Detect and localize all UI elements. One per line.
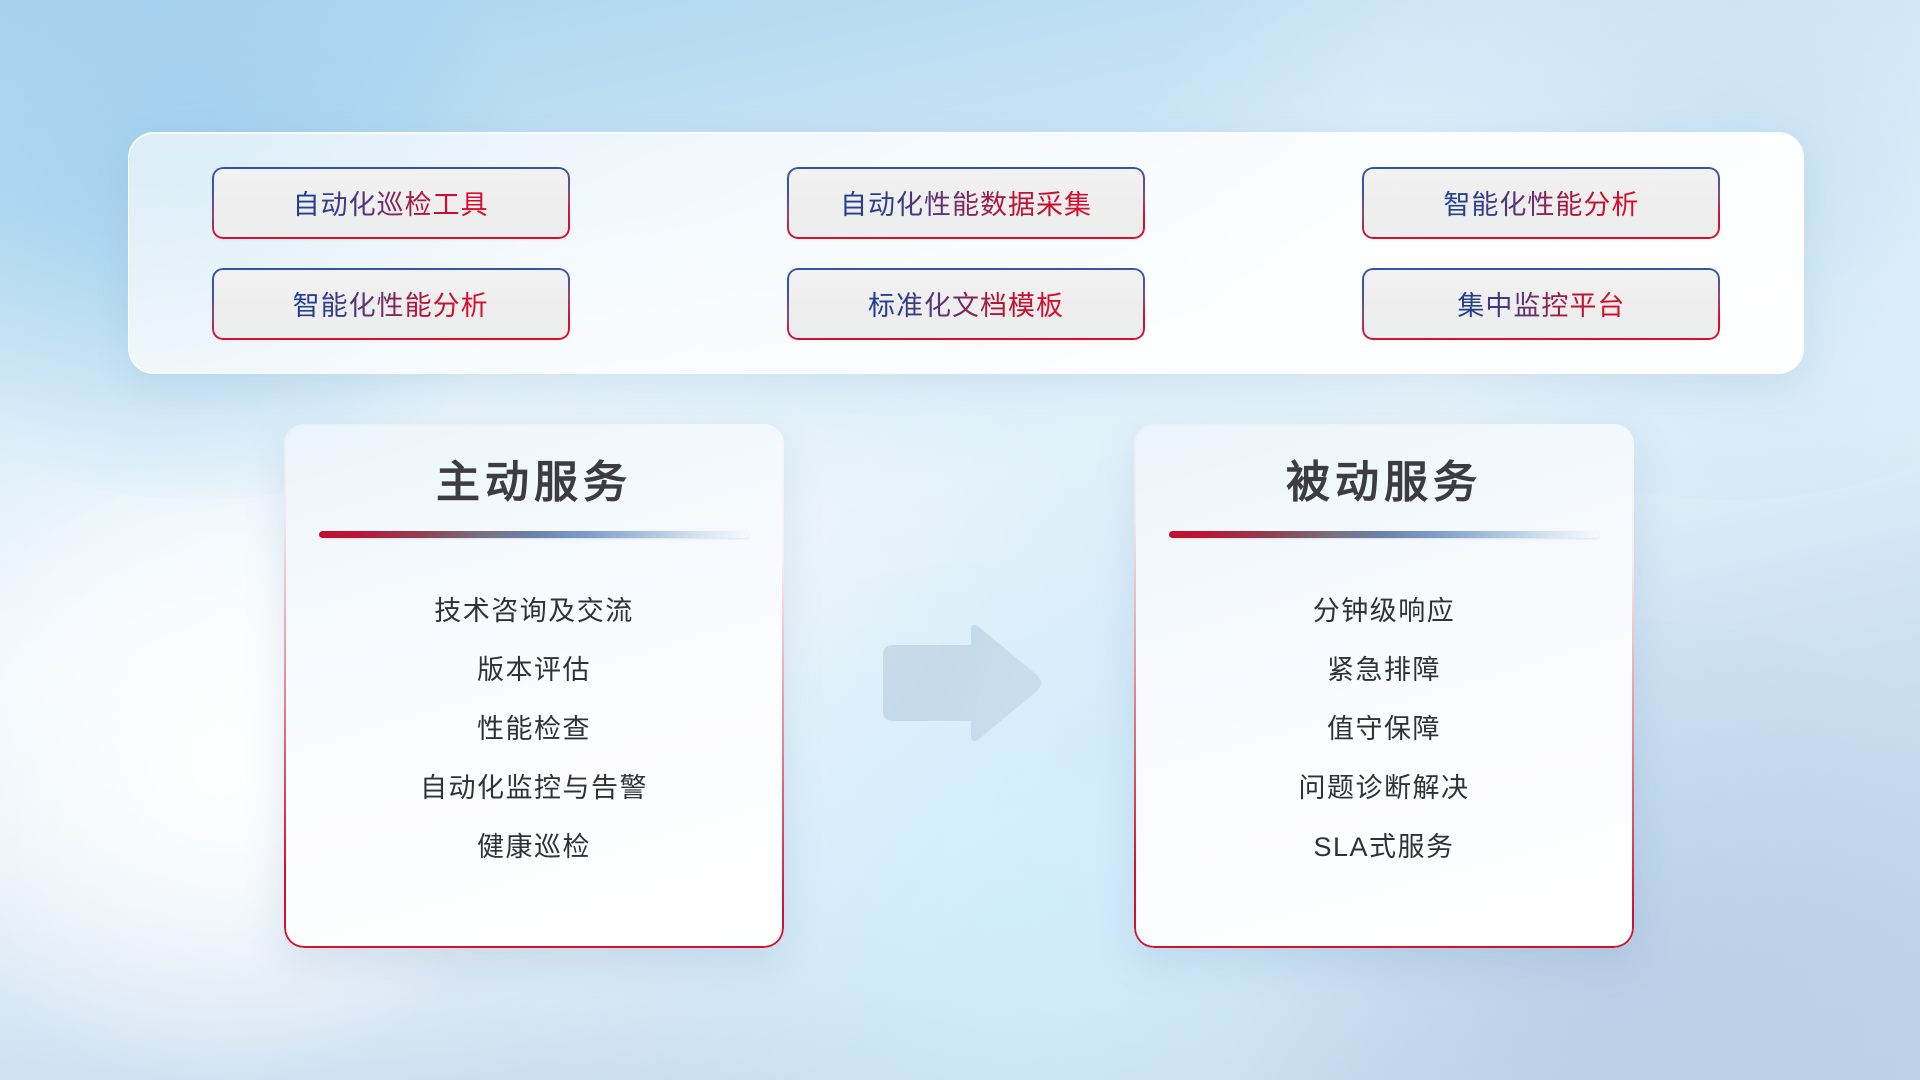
capability-pill[interactable]: 标准化文档模板 [787, 268, 1145, 340]
capability-pill-label: 智能化性能分析 [1443, 183, 1639, 222]
list-item: 问题诊断解决 [1160, 759, 1608, 818]
capability-pill[interactable]: 智能化性能分析 [212, 268, 570, 340]
list-item: 技术咨询及交流 [310, 582, 758, 641]
capability-pill-label: 自动化巡检工具 [293, 183, 489, 222]
capability-pill-label: 标准化文档模板 [868, 284, 1064, 323]
capability-pill-grid: 自动化巡检工具 自动化性能数据采集 智能化性能分析 智能化性能分析 标准化文档模… [173, 163, 1759, 343]
service-item-list: 分钟级响应 紧急排障 值守保障 问题诊断解决 SLA式服务 [1160, 582, 1608, 877]
list-item: SLA式服务 [1160, 818, 1608, 877]
capability-pill[interactable]: 自动化巡检工具 [212, 167, 570, 239]
service-card-reactive: 被动服务 分钟级响应 紧急排障 值守保障 问题诊断解决 SLA式服务 [1134, 424, 1634, 948]
title-underline-rule [1169, 531, 1599, 538]
list-item: 版本评估 [310, 641, 758, 700]
service-item-list: 技术咨询及交流 版本评估 性能检查 自动化监控与告警 健康巡检 [310, 582, 758, 877]
card-title: 被动服务 [1160, 458, 1608, 507]
list-item: 分钟级响应 [1160, 582, 1608, 641]
capability-pill-label: 智能化性能分析 [293, 284, 489, 323]
list-item: 值守保障 [1160, 700, 1608, 759]
list-item: 健康巡检 [310, 818, 758, 877]
capability-pill-label: 集中监控平台 [1457, 284, 1625, 323]
slide-canvas: 自动化巡检工具 自动化性能数据采集 智能化性能分析 智能化性能分析 标准化文档模… [0, 0, 1920, 1080]
capability-pill-label: 自动化性能数据采集 [840, 183, 1092, 222]
arrow-right-icon [875, 619, 1047, 747]
list-item: 性能检查 [310, 700, 758, 759]
service-card-proactive: 主动服务 技术咨询及交流 版本评估 性能检查 自动化监控与告警 健康巡检 [284, 424, 784, 948]
capability-pill[interactable]: 集中监控平台 [1362, 268, 1720, 340]
list-item: 紧急排障 [1160, 641, 1608, 700]
capability-panel: 自动化巡检工具 自动化性能数据采集 智能化性能分析 智能化性能分析 标准化文档模… [128, 132, 1804, 374]
card-title: 主动服务 [310, 458, 758, 507]
list-item: 自动化监控与告警 [310, 759, 758, 818]
capability-pill[interactable]: 自动化性能数据采集 [787, 167, 1145, 239]
capability-pill[interactable]: 智能化性能分析 [1362, 167, 1720, 239]
title-underline-rule [319, 531, 749, 538]
